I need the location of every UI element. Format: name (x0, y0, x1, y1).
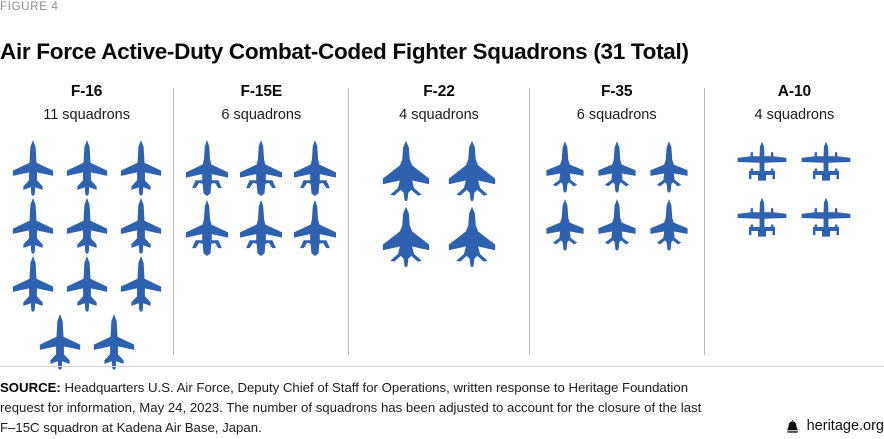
icon-row (33, 314, 141, 372)
icon-grid-f35 (539, 140, 695, 256)
column-name: F-22 (399, 84, 479, 100)
column-count: 6 squadrons (221, 108, 301, 123)
icon-row (730, 140, 858, 196)
f16-fighter-icon (11, 140, 55, 196)
f16-fighter-icon (38, 314, 82, 370)
column-count: 11 squadrons (43, 108, 130, 123)
icon-row (539, 198, 695, 256)
f22-fighter-icon (446, 140, 498, 202)
f35-fighter-icon (596, 140, 638, 194)
f15e-fighter-icon (238, 140, 284, 196)
a10-attack-icon (736, 140, 788, 192)
brand-credit: heritage.org (785, 418, 884, 434)
source-text: Headquarters U.S. Air Force, Deputy Chie… (0, 380, 701, 435)
column-count: 4 squadrons (399, 108, 479, 123)
f16-fighter-icon (119, 198, 163, 254)
f35-fighter-icon (544, 140, 586, 194)
column-name: F-35 (577, 84, 657, 100)
f16-fighter-icon (11, 256, 55, 312)
f16-fighter-icon (92, 314, 136, 370)
page-title: Air Force Active-Duty Combat-Coded Fight… (0, 39, 689, 65)
source-note: SOURCE: Headquarters U.S. Air Force, Dep… (0, 378, 720, 438)
icon-row (6, 140, 168, 198)
column-f15e: F-15E 6 squadrons (174, 84, 348, 359)
f35-fighter-icon (648, 140, 690, 194)
f16-fighter-icon (65, 256, 109, 312)
icon-grid-f22 (373, 140, 505, 272)
f16-fighter-icon (119, 140, 163, 196)
footer-divider (0, 366, 884, 367)
column-header-f22: F-22 4 squadrons (399, 84, 479, 122)
icon-row (730, 196, 858, 252)
a10-attack-icon (800, 140, 852, 192)
a10-attack-icon (800, 196, 852, 248)
f16-fighter-icon (65, 140, 109, 196)
f35-fighter-icon (544, 198, 586, 252)
f35-fighter-icon (596, 198, 638, 252)
f15e-fighter-icon (184, 200, 230, 256)
icon-row (373, 140, 505, 206)
brand-text: heritage.org (807, 418, 884, 434)
f35-fighter-icon (648, 198, 690, 252)
icon-row (6, 198, 168, 256)
f22-fighter-icon (380, 206, 432, 268)
f15e-fighter-icon (238, 200, 284, 256)
icon-grid-a10 (730, 140, 858, 252)
column-count: 6 squadrons (577, 108, 657, 123)
icon-row (180, 200, 342, 260)
a10-attack-icon (736, 196, 788, 248)
f22-fighter-icon (446, 206, 498, 268)
column-header-f35: F-35 6 squadrons (577, 84, 657, 122)
f16-fighter-icon (11, 198, 55, 254)
column-count: 4 squadrons (755, 108, 835, 123)
column-header-a10: A-10 4 squadrons (755, 84, 835, 122)
icon-row (180, 140, 342, 200)
icon-grid-f15e (180, 140, 342, 260)
column-a10: A-10 4 squadrons (705, 84, 884, 359)
liberty-bell-icon (785, 419, 800, 434)
pictogram-columns: F-16 11 squadrons (0, 84, 884, 359)
column-f16: F-16 11 squadrons (0, 84, 173, 359)
f22-fighter-icon (380, 140, 432, 202)
column-header-f15e: F-15E 6 squadrons (221, 84, 301, 122)
figure-label: FIGURE 4 (0, 1, 59, 13)
f15e-fighter-icon (184, 140, 230, 196)
column-name: F-16 (43, 84, 130, 100)
f15e-fighter-icon (292, 140, 338, 196)
f15e-fighter-icon (292, 200, 338, 256)
column-f35: F-35 6 squadrons (530, 84, 704, 359)
column-name: F-15E (221, 84, 301, 100)
f16-fighter-icon (65, 198, 109, 254)
source-label: SOURCE: (0, 380, 61, 395)
column-header-f16: F-16 11 squadrons (43, 84, 130, 122)
icon-row (373, 206, 505, 272)
column-f22: F-22 4 squadrons (349, 84, 528, 359)
column-name: A-10 (755, 84, 835, 100)
icon-grid-f16 (6, 140, 168, 372)
f16-fighter-icon (119, 256, 163, 312)
icon-row (539, 140, 695, 198)
icon-row (6, 256, 168, 314)
